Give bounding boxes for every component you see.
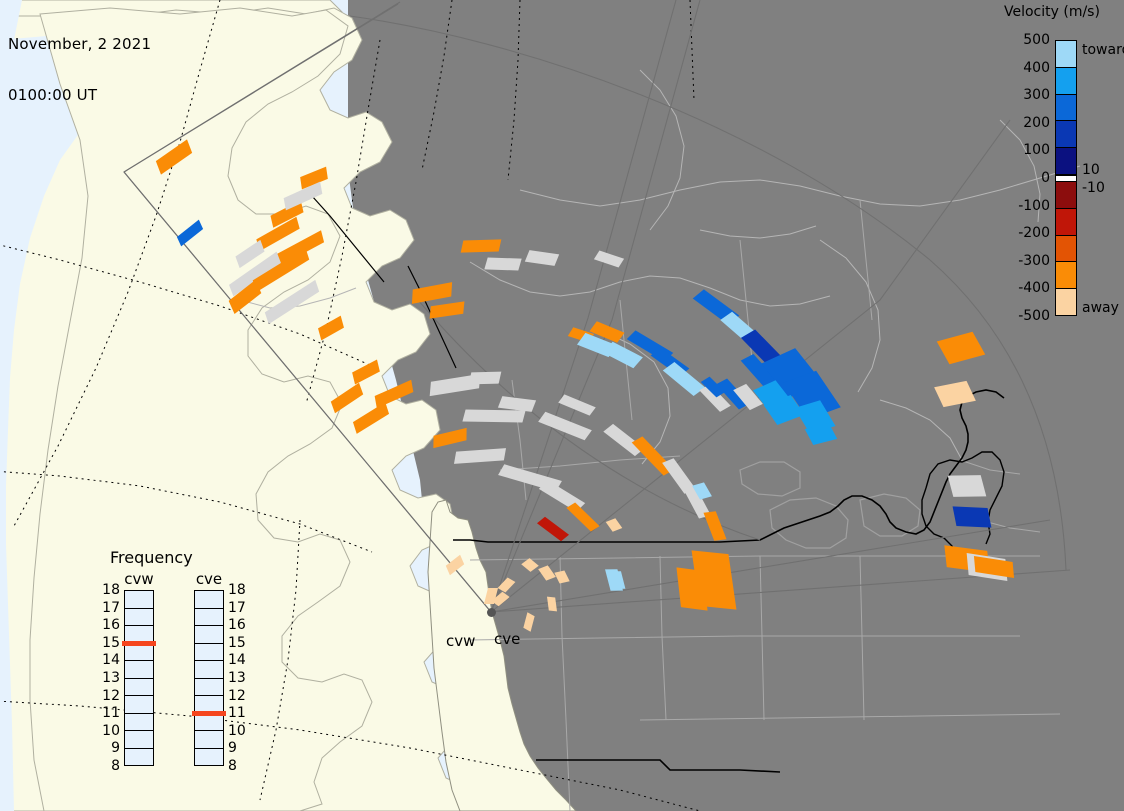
frequency-tick-label: 15 — [228, 635, 252, 651]
frequency-scale-cell — [125, 591, 153, 609]
frequency-tick-label: 18 — [228, 582, 252, 598]
colorbar-segment — [1056, 182, 1076, 209]
frequency-tick-label: 9 — [228, 740, 252, 756]
colorbar-pos-threshold-label: 10 — [1082, 162, 1100, 178]
colorbar-tick-label: 300 — [1023, 87, 1050, 103]
colorbar-tick-label: 0 — [1041, 170, 1050, 186]
colorbar-segment — [1056, 289, 1076, 315]
frequency-tick-label: 17 — [228, 600, 252, 616]
colorbar-tick-label: -200 — [1018, 225, 1050, 241]
title-date: November, 2 2021 — [8, 36, 151, 53]
colorbar-tick-label: 200 — [1023, 115, 1050, 131]
colorbar-zero-band — [1056, 175, 1076, 182]
frequency-scale-column — [124, 590, 154, 766]
radar-cell — [484, 257, 521, 270]
radar-station-marker — [487, 608, 496, 617]
timestamp-title: November, 2 2021 0100:00 UT — [8, 2, 151, 138]
frequency-scale-cell — [195, 591, 223, 609]
frequency-scale-cell — [195, 749, 223, 766]
frequency-tick-label: 10 — [228, 723, 252, 739]
frequency-scale-cell — [195, 679, 223, 697]
colorbar-segment — [1056, 121, 1076, 148]
velocity-colorbar: Velocity (m/s) 5004003002001000-100-200-… — [996, 4, 1124, 334]
colorbar-toward-label: toward — [1082, 42, 1124, 58]
radar-cell — [461, 239, 502, 252]
radar-cell — [469, 372, 502, 385]
frequency-scale-cell — [125, 749, 153, 766]
frequency-tick-label: 14 — [228, 652, 252, 668]
frequency-tick-label: 14 — [98, 652, 120, 668]
colorbar-tick-label: -500 — [1018, 308, 1050, 324]
frequency-marker-cvw — [122, 641, 156, 646]
colorbar-tick-label: 100 — [1023, 142, 1050, 158]
colorbar-segment — [1056, 68, 1076, 95]
title-time: 0100:00 UT — [8, 87, 151, 104]
frequency-tick-label: 12 — [228, 688, 252, 704]
frequency-tick-label: 17 — [98, 600, 120, 616]
frequency-scale-cell — [125, 731, 153, 749]
frequency-legend: Frequency cvw18171615141312111098cve1817… — [90, 548, 250, 788]
radar-cell — [953, 506, 992, 527]
colorbar-segment — [1056, 95, 1076, 122]
frequency-tick-label: 15 — [98, 635, 120, 651]
frequency-scale-column — [194, 590, 224, 766]
frequency-tick-label: 8 — [228, 758, 252, 774]
frequency-legend-title: Frequency — [110, 548, 193, 567]
frequency-tick-label: 11 — [228, 705, 252, 721]
frequency-tick-label: 10 — [98, 723, 120, 739]
frequency-scale-cell — [195, 609, 223, 627]
colorbar-tick-label: 400 — [1023, 60, 1050, 76]
radar-cell — [462, 410, 525, 423]
frequency-scale-cell — [125, 609, 153, 627]
frequency-scale-cell — [195, 661, 223, 679]
frequency-scale-cell — [125, 661, 153, 679]
station-label-cve: cve — [494, 630, 520, 648]
radar-map-figure: November, 2 2021 0100:00 UT Velocity (m/… — [0, 0, 1124, 811]
frequency-tick-label: 13 — [98, 670, 120, 686]
frequency-tick-label: 13 — [228, 670, 252, 686]
frequency-tick-label: 16 — [228, 617, 252, 633]
colorbar-tick-label: -400 — [1018, 280, 1050, 296]
frequency-scale-cell — [195, 731, 223, 749]
frequency-tick-label: 8 — [98, 758, 120, 774]
colorbar-tick-label: -300 — [1018, 253, 1050, 269]
frequency-scale-cell — [125, 714, 153, 732]
colorbar-segment — [1056, 41, 1076, 68]
colorbar-gradient — [1055, 40, 1077, 316]
colorbar-segment — [1056, 148, 1076, 175]
frequency-scale-cell — [125, 696, 153, 714]
frequency-scale-cell — [125, 679, 153, 697]
frequency-marker-cve — [192, 711, 226, 716]
frequency-tick-label: 11 — [98, 705, 120, 721]
colorbar-tick-label: -100 — [1018, 198, 1050, 214]
frequency-tick-label: 16 — [98, 617, 120, 633]
frequency-scale-cell — [195, 626, 223, 644]
colorbar-segment — [1056, 236, 1076, 263]
colorbar-away-label: away — [1082, 300, 1119, 316]
radar-cell — [948, 475, 987, 497]
frequency-tick-label: 9 — [98, 740, 120, 756]
frequency-tick-label: 18 — [98, 582, 120, 598]
colorbar-segment — [1056, 209, 1076, 236]
colorbar-title: Velocity (m/s) — [1004, 4, 1100, 20]
colorbar-tick-label: 500 — [1023, 32, 1050, 48]
frequency-scale-cell — [195, 644, 223, 662]
colorbar-neg-threshold-label: -10 — [1082, 180, 1105, 196]
frequency-tick-label: 12 — [98, 688, 120, 704]
station-label-cvw: cvw — [446, 632, 475, 650]
frequency-scale-cell — [125, 644, 153, 662]
colorbar-segment — [1056, 262, 1076, 289]
radar-cell — [676, 567, 707, 610]
